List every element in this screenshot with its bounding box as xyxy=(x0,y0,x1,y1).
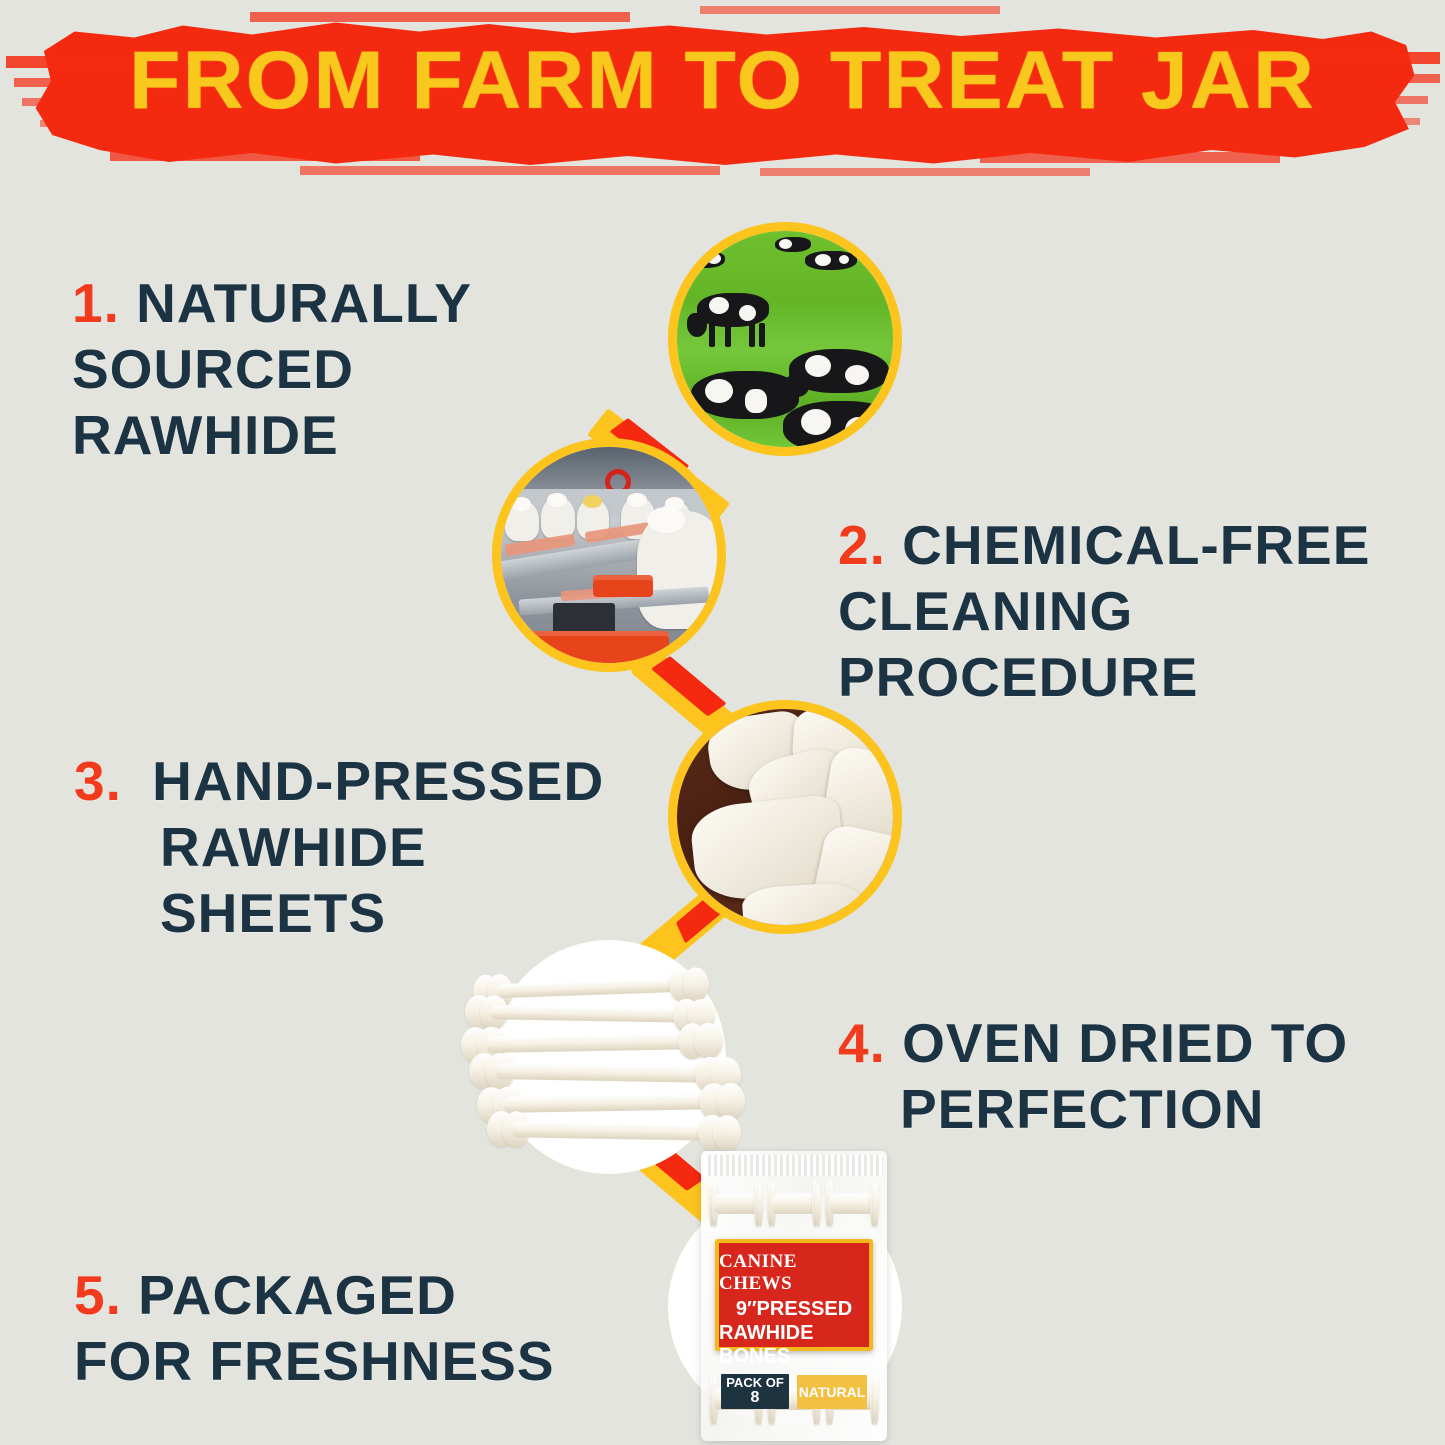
step-3-line-2: RAWHIDE SHEETS xyxy=(160,814,634,946)
natural-badge: NATURAL xyxy=(797,1375,867,1409)
bones-in-bag-top xyxy=(709,1175,879,1227)
hairnet xyxy=(647,507,685,533)
hairnet xyxy=(547,493,567,507)
rawhide-sheet xyxy=(741,881,865,934)
canine-chews-package: CANINE CHEWS 9″PRESSED RAWHIDE BONES PAC… xyxy=(701,1151,887,1441)
product-line-2: RAWHIDE BONES xyxy=(719,1322,869,1368)
pack-label: PACK OF xyxy=(721,1376,789,1390)
step-1-image xyxy=(668,222,902,456)
step-3-text: 3. HAND-PRESSED RAWHIDE SHEETS xyxy=(74,748,634,946)
hairnet xyxy=(511,497,531,511)
red-tray xyxy=(593,575,653,597)
package-label: CANINE CHEWS 9″PRESSED RAWHIDE BONES PAC… xyxy=(715,1239,873,1351)
processing-facility-photo xyxy=(501,447,717,663)
product-line-1: 9″PRESSED xyxy=(736,1298,852,1321)
step-2-line-2: CLEANING PROCEDURE xyxy=(838,578,1408,710)
step-5-text: 5. PACKAGED FOR FRESHNESS xyxy=(74,1262,594,1394)
dark-tray xyxy=(553,603,615,633)
step-2-text: 2. CHEMICAL-FREE CLEANING PROCEDURE xyxy=(838,512,1408,710)
cow xyxy=(789,349,889,393)
brush-stroke-accent xyxy=(980,152,1280,163)
cow xyxy=(691,371,799,419)
step-1-number: 1. xyxy=(72,272,120,334)
brush-stroke-accent xyxy=(300,166,720,175)
step-5-line-1: PACKAGED xyxy=(138,1264,457,1326)
cow xyxy=(775,237,811,252)
step-1-text: 1. NATURALLY SOURCED RAWHIDE xyxy=(72,270,632,468)
step-4-text: 4. OVEN DRIED TO PERFECTION xyxy=(838,1010,1358,1142)
label-badges: PACK OF 8 NATURAL xyxy=(721,1374,867,1409)
rawhide-bone xyxy=(487,1111,742,1151)
pack-count: 8 xyxy=(721,1390,789,1407)
hairnet xyxy=(627,493,647,507)
cow xyxy=(805,251,857,270)
step-1-line-1: NATURALLY xyxy=(136,272,472,334)
step-4-number: 4. xyxy=(838,1012,886,1074)
bag-seal xyxy=(705,1155,884,1175)
step-4-line-2: PERFECTION xyxy=(900,1076,1358,1142)
step-5-image: CANINE CHEWS 9″PRESSED RAWHIDE BONES PAC… xyxy=(668,1190,902,1424)
brand-name: CANINE CHEWS xyxy=(719,1251,869,1295)
rawhide-sheets-photo xyxy=(677,709,893,925)
header-banner: FROM FARM TO TREAT JAR xyxy=(0,0,1445,200)
cow xyxy=(685,251,725,268)
step-3-image xyxy=(668,700,902,934)
stacked-rawhide-bones-photo xyxy=(459,967,759,1157)
natural-label: NATURAL xyxy=(799,1384,866,1400)
brush-stroke-accent xyxy=(110,150,420,161)
brush-stroke-accent xyxy=(250,12,630,22)
step-2-number: 2. xyxy=(838,514,886,576)
brush-stroke-accent xyxy=(760,168,1090,176)
counter xyxy=(501,653,561,672)
pasture-photo xyxy=(677,231,893,447)
step-1-line-2: SOURCED RAWHIDE xyxy=(72,336,632,468)
page-title: FROM FARM TO TREAT JAR xyxy=(0,34,1445,128)
step-5-number: 5. xyxy=(74,1264,122,1326)
step-4-image xyxy=(492,940,726,1174)
step-3-line-1: HAND-PRESSED xyxy=(152,748,604,814)
cow xyxy=(783,401,899,453)
step-2-image xyxy=(492,438,726,672)
step-3-number: 3. xyxy=(74,750,122,812)
step-5-line-2: FOR FRESHNESS xyxy=(74,1328,594,1394)
step-4-line-1: OVEN DRIED TO xyxy=(902,1012,1348,1074)
pack-count-badge: PACK OF 8 xyxy=(721,1374,789,1409)
worker-foreground xyxy=(637,511,726,629)
hairnet xyxy=(583,495,602,508)
cow xyxy=(697,293,769,327)
step-2-line-1: CHEMICAL-FREE xyxy=(902,514,1370,576)
brush-stroke-accent xyxy=(700,6,1000,14)
